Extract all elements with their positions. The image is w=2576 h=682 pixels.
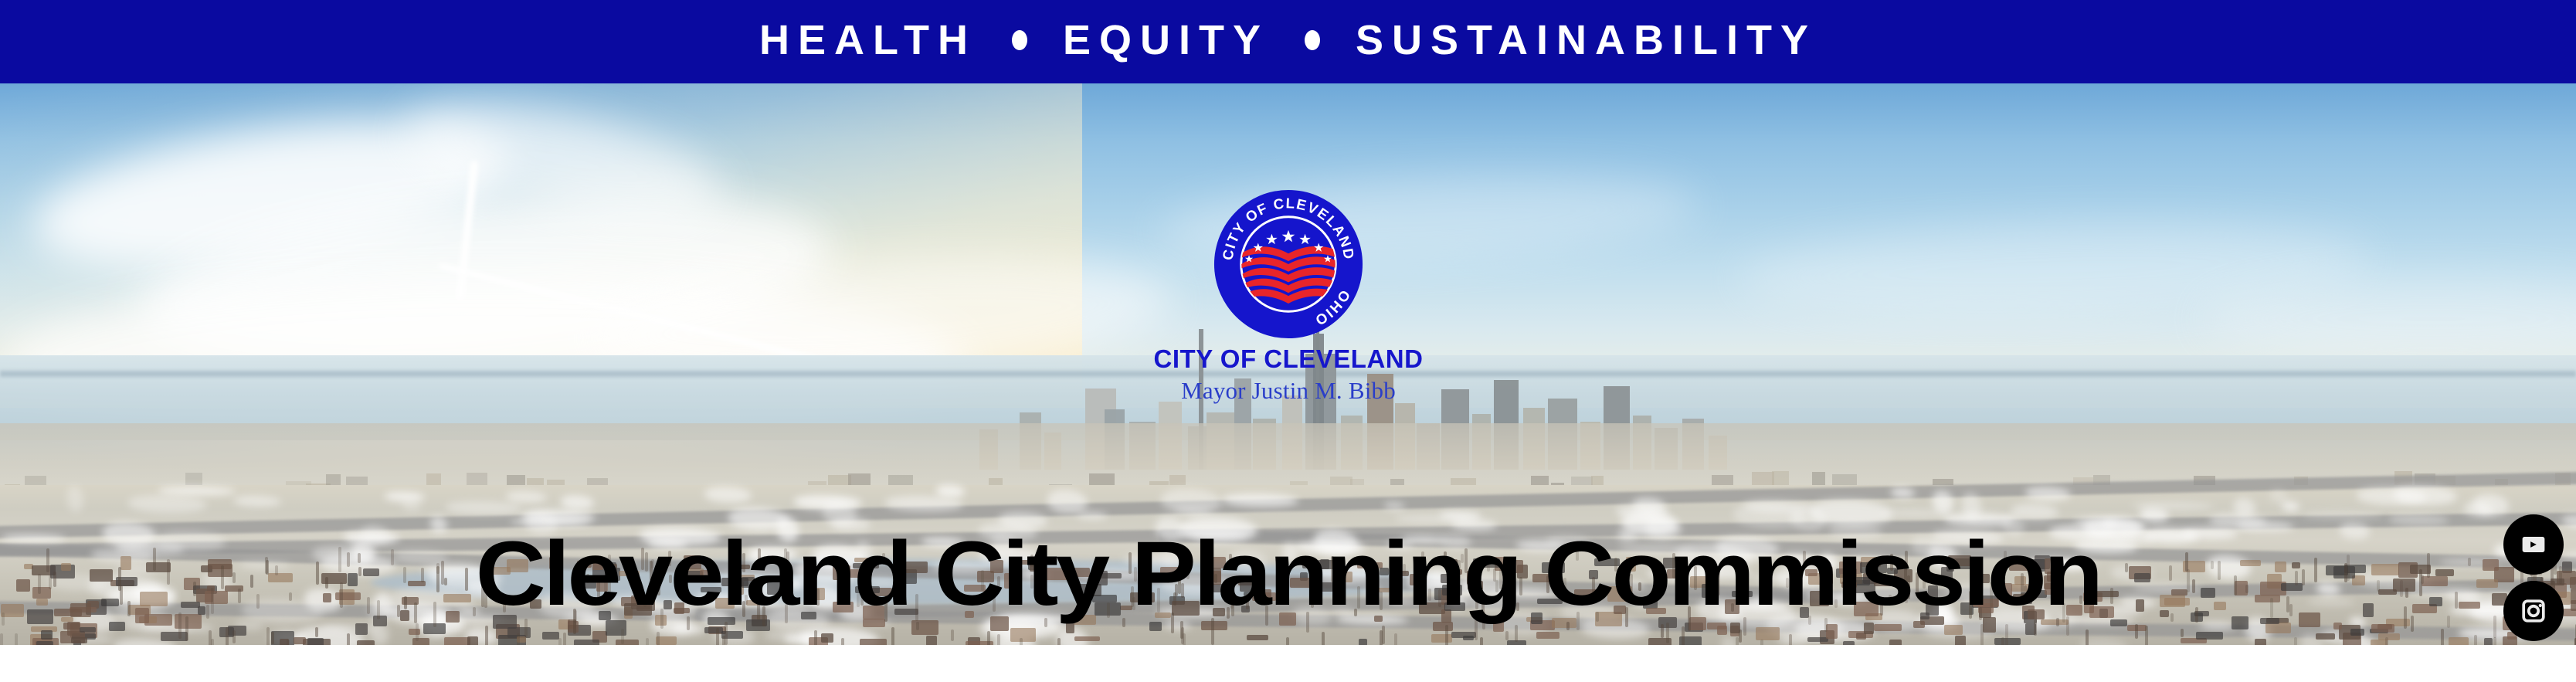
bare-tree xyxy=(2135,624,2138,640)
rooftop xyxy=(409,629,421,635)
snow-patch xyxy=(234,496,281,506)
bare-tree xyxy=(1739,629,1742,643)
rooftop xyxy=(1826,624,1837,640)
bullet-dot-icon xyxy=(1012,30,1027,50)
rooftop xyxy=(704,627,723,633)
snow-patch xyxy=(561,495,594,510)
bare-tree xyxy=(1505,631,1509,640)
org-name: CITY OF CLEVELAND xyxy=(1009,346,1568,372)
rooftop xyxy=(926,636,937,645)
bare-tree xyxy=(1980,624,1984,645)
bare-tree xyxy=(1020,638,1023,645)
rooftop xyxy=(1010,628,1036,642)
rooftop xyxy=(542,632,559,640)
rooftop xyxy=(1359,639,1367,645)
bare-tree xyxy=(1515,625,1518,642)
rooftop xyxy=(2196,632,2223,640)
rooftop xyxy=(616,640,639,645)
bare-tree xyxy=(621,629,624,644)
snow-patch xyxy=(128,495,207,513)
snow-patch xyxy=(446,501,523,514)
snow-patch xyxy=(2282,501,2299,511)
bare-tree xyxy=(951,629,954,641)
bare-tree xyxy=(1183,633,1186,645)
rooftop xyxy=(2371,624,2394,633)
snow-patch xyxy=(1047,490,1088,514)
bare-tree xyxy=(1682,626,1685,645)
instagram-icon xyxy=(2517,594,2551,628)
bare-tree xyxy=(1789,634,1792,645)
rooftop xyxy=(2449,637,2469,645)
snow-patch xyxy=(506,491,548,503)
rooftop xyxy=(1807,637,1828,642)
rooftop xyxy=(2378,633,2400,640)
bare-tree xyxy=(2474,635,2477,645)
bullet-dot-icon xyxy=(1305,30,1320,50)
bare-tree xyxy=(2005,624,2008,645)
bare-tree xyxy=(841,638,844,645)
hero-photo: CITY OF CLEVELAND OHIO CITY OF CLEVELAND… xyxy=(0,83,2576,645)
bare-tree xyxy=(1666,623,1669,643)
mayor-name: Mayor Justin M. Bibb xyxy=(1009,378,1568,402)
bare-tree xyxy=(646,638,649,645)
bare-tree xyxy=(15,633,18,645)
bare-tree xyxy=(1286,637,1289,646)
snow-patch xyxy=(67,486,83,512)
bare-tree xyxy=(271,632,274,644)
rooftop xyxy=(1944,625,1963,635)
page-root: HEALTH EQUITY SUSTAINABILITY xyxy=(0,0,2576,682)
instagram-link[interactable] xyxy=(2503,581,2564,641)
rooftop xyxy=(2265,623,2291,633)
tagline-word-health: HEALTH xyxy=(759,19,976,61)
bare-tree xyxy=(517,633,520,645)
rooftop xyxy=(821,633,833,643)
snow-patch xyxy=(385,492,425,502)
bare-tree xyxy=(0,633,3,645)
snow-patch xyxy=(936,485,965,497)
rooftop xyxy=(2110,619,2126,626)
snow-patch xyxy=(1384,501,1405,511)
bare-tree xyxy=(1661,624,1664,639)
rooftop xyxy=(1074,636,1100,641)
bare-tree xyxy=(266,627,270,645)
rooftop xyxy=(1431,634,1453,643)
bare-tree xyxy=(2493,637,2496,645)
bare-tree xyxy=(347,633,350,645)
rooftop xyxy=(2255,639,2266,645)
bare-tree xyxy=(2385,637,2388,645)
snow-patch xyxy=(1810,500,1892,526)
rooftop xyxy=(307,638,324,645)
bare-tree xyxy=(657,632,660,645)
rooftop xyxy=(1536,632,1560,639)
snow-patch xyxy=(1778,637,1808,643)
snow-patch xyxy=(2234,498,2255,517)
bare-tree xyxy=(987,631,990,645)
rooftop xyxy=(2333,623,2342,629)
rooftop xyxy=(80,627,96,633)
bare-tree xyxy=(185,616,188,641)
bare-tree xyxy=(209,630,212,645)
bare-tree xyxy=(558,638,562,645)
bare-tree xyxy=(563,633,566,645)
rooftop xyxy=(161,632,187,641)
bare-tree xyxy=(2294,637,2297,645)
bare-tree xyxy=(1445,625,1448,645)
snow-patch xyxy=(158,487,236,495)
snow-patch xyxy=(2394,486,2458,505)
tagline-inner: HEALTH EQUITY SUSTAINABILITY xyxy=(759,19,1817,61)
rooftop xyxy=(355,623,368,635)
snow-patch xyxy=(1933,490,1953,513)
bare-tree xyxy=(2001,637,2004,645)
bare-tree xyxy=(1380,630,1383,645)
social-links xyxy=(2503,514,2564,645)
rooftop xyxy=(444,637,470,645)
bare-tree xyxy=(232,630,236,644)
rooftop xyxy=(109,622,124,631)
city-of-cleveland-seal-icon: CITY OF CLEVELAND OHIO xyxy=(1213,188,1364,340)
bare-tree xyxy=(997,634,1000,645)
snow-patch xyxy=(1891,487,1915,499)
rooftop xyxy=(1463,636,1475,640)
snow-patch xyxy=(1744,500,1813,513)
rooftop xyxy=(1247,635,1269,640)
snow-patch xyxy=(1223,494,1298,507)
bare-tree xyxy=(226,627,229,645)
snow-patch xyxy=(1077,512,1108,519)
snow-patch xyxy=(2270,490,2287,503)
rooftop xyxy=(467,636,478,645)
snow-patch xyxy=(2200,622,2235,629)
bare-tree xyxy=(416,623,419,641)
bare-tree xyxy=(1736,637,1739,645)
tagline-word-sustainability: SUSTAINABILITY xyxy=(1356,19,1817,61)
rooftop xyxy=(1955,636,1966,645)
rooftop xyxy=(2350,629,2364,636)
rooftop xyxy=(2316,633,2335,640)
bare-tree xyxy=(485,626,488,645)
snow-patch xyxy=(2140,508,2169,521)
rooftop xyxy=(574,640,599,645)
snow-patch xyxy=(2025,487,2070,500)
bare-tree xyxy=(287,640,290,645)
snow-patch xyxy=(704,487,752,502)
bare-tree xyxy=(1394,633,1397,645)
bottom-white-strip xyxy=(0,645,2576,682)
bare-tree xyxy=(725,622,728,645)
rooftop xyxy=(2484,638,2493,645)
bare-tree xyxy=(1057,638,1061,645)
bare-tree xyxy=(315,627,318,637)
bare-tree xyxy=(716,628,719,645)
bare-tree xyxy=(1322,632,1325,645)
bare-tree xyxy=(2145,626,2148,645)
tagline-banner: HEALTH EQUITY SUSTAINABILITY xyxy=(0,0,2576,83)
tagline-word-equity: EQUITY xyxy=(1063,19,1269,61)
youtube-icon xyxy=(2516,527,2551,562)
bare-tree xyxy=(2086,629,2089,645)
youtube-link[interactable] xyxy=(2503,514,2564,575)
bare-tree xyxy=(2441,629,2444,645)
bare-tree xyxy=(1760,640,1763,645)
bare-tree xyxy=(891,627,894,645)
bare-tree xyxy=(1480,637,1483,645)
rooftop xyxy=(860,639,887,645)
rooftop xyxy=(71,637,87,643)
page-title: Cleveland City Planning Commission xyxy=(0,528,2576,619)
rooftop xyxy=(41,630,53,640)
bare-tree xyxy=(814,630,817,645)
rooftop xyxy=(1874,624,1902,631)
rooftop xyxy=(1756,627,1779,640)
snow-patch xyxy=(2011,504,2058,519)
rooftop xyxy=(294,637,306,644)
bare-tree xyxy=(2181,629,2184,638)
